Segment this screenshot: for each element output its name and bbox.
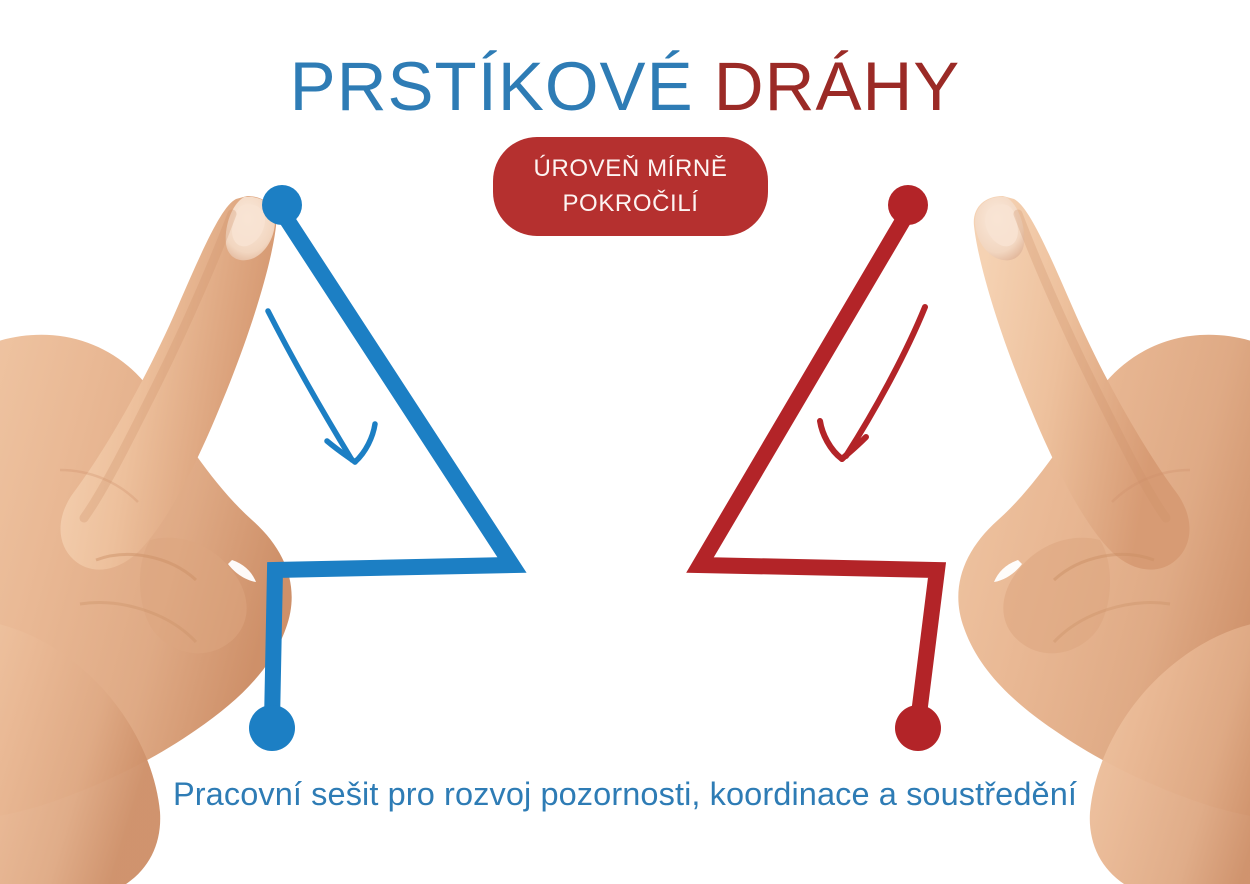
artwork-stage [0, 0, 1250, 884]
red-track [700, 185, 941, 751]
blue-track [249, 185, 512, 751]
page-title-secondary: DRÁHY [714, 48, 961, 125]
level-badge: ÚROVEŇ MÍRNĚ POKROČILÍ [493, 137, 768, 236]
blue-track-end-dot [249, 705, 295, 751]
red-track-end-dot [895, 705, 941, 751]
blue-track-start-dot [262, 185, 302, 225]
level-badge-line-1: ÚROVEŇ MÍRNĚ [534, 152, 728, 187]
page-subtitle: Pracovní sešit pro rozvoj pozornosti, ko… [0, 776, 1250, 813]
page-title-primary: PRSTÍKOVÉ [290, 48, 694, 125]
red-track-start-dot [888, 185, 928, 225]
page-title: PRSTÍKOVÉ DRÁHY [0, 52, 1250, 121]
page-title-space [694, 48, 714, 125]
level-badge-line-2: POKROČILÍ [562, 187, 698, 222]
worksheet-cover: PRSTÍKOVÉ DRÁHY ÚROVEŇ MÍRNĚ POKROČILÍ P… [0, 0, 1250, 884]
